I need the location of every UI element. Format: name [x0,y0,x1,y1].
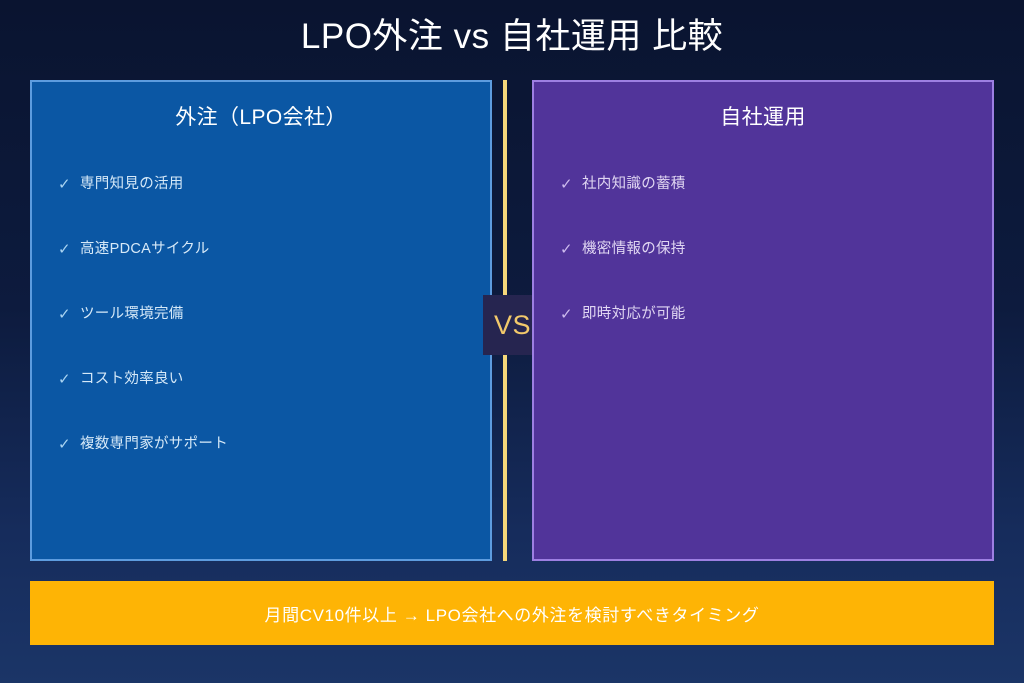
in-house-benefit-list: ✓社内知識の蓄積✓機密情報の保持✓即時対応が可能 [534,152,992,347]
in-house-item-label: 機密情報の保持 [582,241,686,258]
check-icon: ✓ [560,307,582,322]
callout-banner: 月間CV10件以上 → LPO会社への外注を検討すべきタイミング [30,581,994,645]
outsourcing-item-label: コスト効率良い [80,371,184,388]
outsourcing-benefit-list: ✓専門知見の活用✓高速PDCAサイクル✓ツール環境完備✓コスト効率良い✓複数専門… [32,152,490,477]
outsourcing-panel-heading: 外注（LPO会社） [32,101,490,131]
check-icon: ✓ [58,177,80,192]
callout-banner-text: 月間CV10件以上 → LPO会社への外注を検討すべきタイミング [265,601,760,626]
list-item: ✓高速PDCAサイクル [32,217,490,282]
check-icon: ✓ [58,242,80,257]
check-icon: ✓ [560,177,582,192]
in-house-panel-heading: 自社運用 [534,101,992,131]
check-icon: ✓ [58,307,80,322]
check-icon: ✓ [560,242,582,257]
outsourcing-panel: 外注（LPO会社） ✓専門知見の活用✓高速PDCAサイクル✓ツール環境完備✓コス… [30,80,492,561]
check-icon: ✓ [58,437,80,452]
outsourcing-item-label: 専門知見の活用 [80,176,184,193]
check-icon: ✓ [58,372,80,387]
in-house-panel: 自社運用 ✓社内知識の蓄積✓機密情報の保持✓即時対応が可能 [532,80,994,561]
comparison-slide: LPO外注 vs 自社運用 比較 外注（LPO会社） ✓専門知見の活用✓高速PD… [0,0,1024,683]
list-item: ✓即時対応が可能 [534,282,992,347]
list-item: ✓社内知識の蓄積 [534,152,992,217]
in-house-item-label: 社内知識の蓄積 [582,176,686,193]
page-title: LPO外注 vs 自社運用 比較 [0,16,1024,58]
in-house-item-label: 即時対応が可能 [582,306,686,323]
outsourcing-item-label: ツール環境完備 [80,306,184,323]
list-item: ✓複数専門家がサポート [32,412,490,477]
outsourcing-item-label: 複数専門家がサポート [80,436,228,453]
list-item: ✓専門知見の活用 [32,152,490,217]
list-item: ✓機密情報の保持 [534,217,992,282]
outsourcing-item-label: 高速PDCAサイクル [80,241,210,258]
list-item: ✓ツール環境完備 [32,282,490,347]
list-item: ✓コスト効率良い [32,347,490,412]
